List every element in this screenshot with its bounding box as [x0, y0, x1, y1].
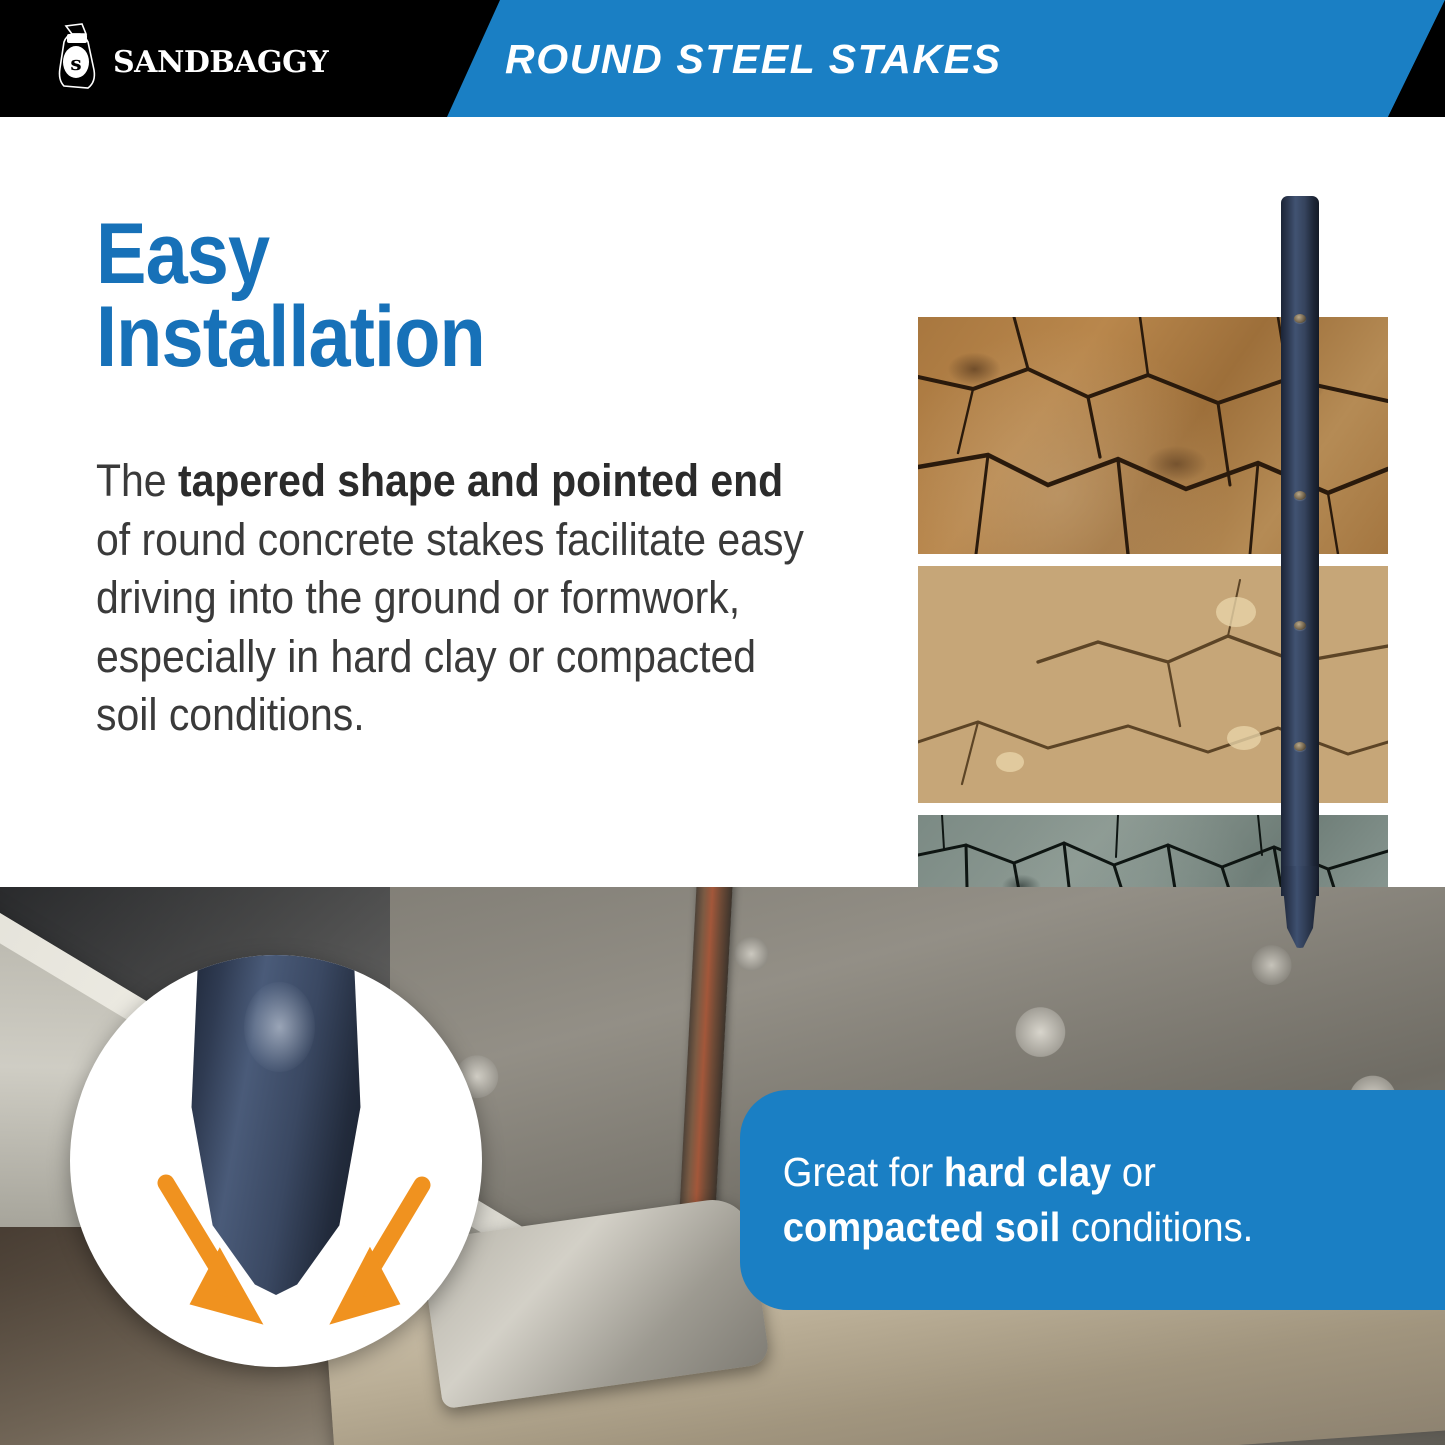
body-part-1: The: [96, 455, 178, 506]
sandbag-icon: s: [52, 22, 100, 94]
callout-part-2: or: [1111, 1149, 1156, 1195]
brand-name: sandbaggy: [113, 37, 328, 80]
callout-part-3: conditions.: [1060, 1204, 1253, 1250]
round-steel-stake: [1281, 196, 1319, 948]
taper-direction-arrows: [70, 955, 482, 1367]
headline-line-1: Easy: [96, 206, 269, 302]
arrow-right-head: [346, 1265, 388, 1311]
body-bold-1: tapered shape and pointed end: [178, 455, 783, 506]
infographic-page: s sandbaggy ROUND STEEL STAKES Easy Inst…: [0, 0, 1445, 1445]
body-part-2: of round concrete stakes facilitate easy…: [96, 514, 804, 741]
callout-bold-2: compacted soil: [783, 1204, 1061, 1250]
stake-nail-hole: [1294, 314, 1306, 323]
page-title: Easy Installation: [96, 213, 485, 380]
stake-pointed-tip: [1281, 866, 1319, 948]
header-bar: s sandbaggy ROUND STEEL STAKES: [0, 0, 1445, 117]
body-paragraph: The tapered shape and pointed end of rou…: [96, 452, 815, 745]
tapered-tip-closeup: [70, 955, 482, 1367]
stake-nail-hole: [1294, 742, 1306, 751]
headline-line-2: Installation: [96, 289, 485, 385]
callout-bold-1: hard clay: [944, 1149, 1111, 1195]
content-panel: Easy Installation The tapered shape and …: [0, 117, 1445, 887]
svg-text:s: s: [70, 51, 81, 75]
stake-nail-hole: [1294, 491, 1306, 500]
callout-text: Great for hard clay or compacted soil co…: [740, 1145, 1285, 1255]
header-title: ROUND STEEL STAKES: [505, 36, 1002, 83]
callout-part-1: Great for: [783, 1149, 944, 1195]
stake-shaft: [1281, 196, 1319, 896]
arrow-left-head: [202, 1265, 246, 1311]
callout-banner: Great for hard clay or compacted soil co…: [740, 1090, 1445, 1310]
stake-nail-hole: [1294, 621, 1306, 630]
brand-logo[interactable]: s sandbaggy: [52, 22, 328, 94]
